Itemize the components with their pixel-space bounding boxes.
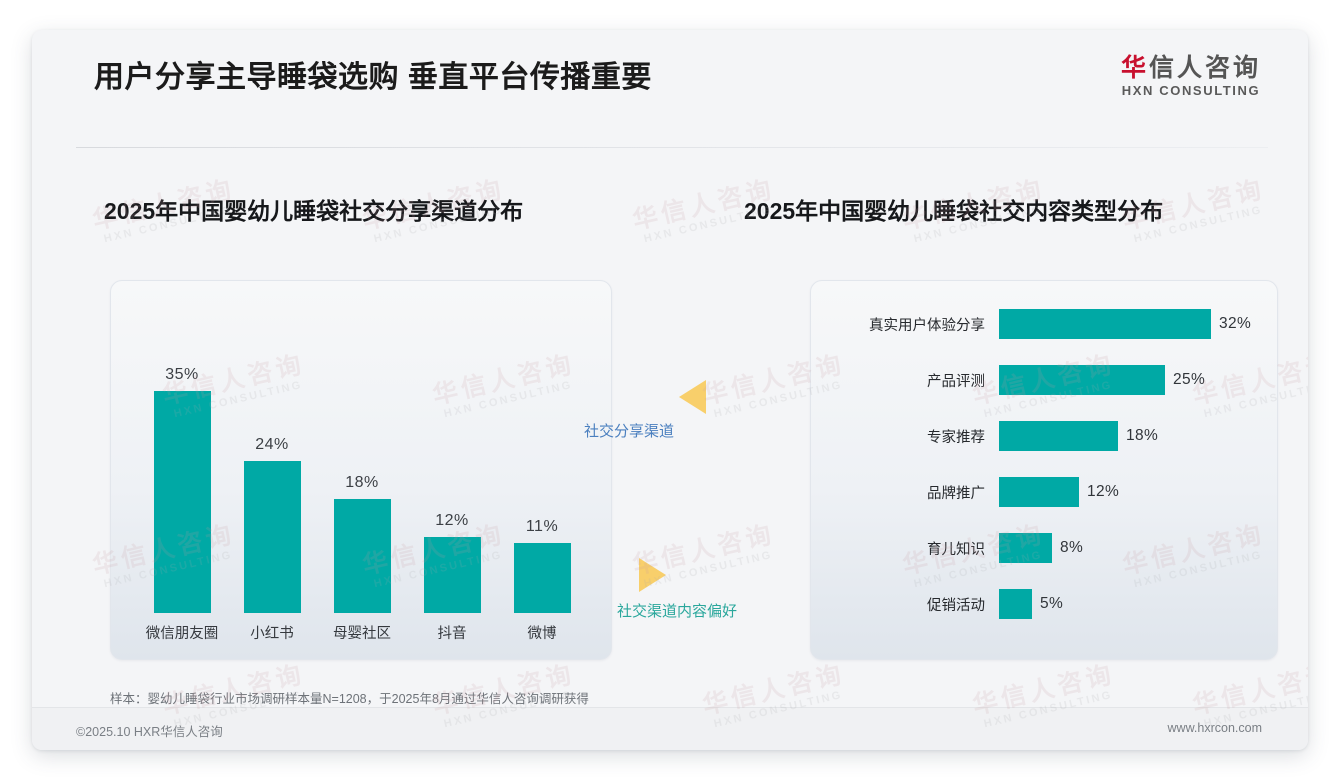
right-chart-title: 2025年中国婴幼儿睡袋社交内容类型分布 [744,192,1163,226]
bar-category-label: 抖音 [407,622,497,643]
bar-value-label: 12% [407,512,497,530]
bar-category-label: 微信朋友圈 [137,622,227,643]
bar-column: 24% [227,436,317,613]
bar-column: 12% [407,512,497,613]
bar [244,461,301,613]
bar-value-label: 8% [1060,539,1083,557]
slide-footer: ©2025.10 HXR华信人咨询 www.hxrcon.com [32,707,1308,750]
bar-value-label: 18% [1126,427,1158,445]
bar-category-label: 小红书 [227,622,317,643]
bar-value-label: 12% [1087,483,1119,501]
page-title: 用户分享主导睡袋选购 垂直平台传播重要 [94,52,652,96]
bar [154,391,211,613]
horizontal-bar-chart: 真实用户体验分享32%产品评测25%专家推荐18%品牌推广12%育儿知识8%促销… [811,281,1277,659]
annotation-b-label: 社交渠道内容偏好 [617,600,737,621]
triangle-right-icon [639,558,666,592]
bar-column: 35% [137,366,227,613]
bar-value-label: 35% [137,366,227,384]
bar-row: 育儿知识8% [811,531,1277,565]
right-chart-panel: 真实用户体验分享32%产品评测25%专家推荐18%品牌推广12%育儿知识8%促销… [810,280,1278,660]
annotation-a-label: 社交分享渠道 [584,420,674,441]
logo-accent-char: 华 [1121,54,1149,82]
bar-category-label: 育儿知识 [811,538,999,559]
triangle-left-icon [679,380,706,414]
bar-column: 11% [497,518,587,613]
bar-row: 专家推荐18% [811,419,1277,453]
bar-value-label: 25% [1173,371,1205,389]
left-chart-panel: 35%微信朋友圈24%小红书18%母婴社区12%抖音11%微博 [110,280,612,660]
bar-column: 18% [317,474,407,613]
slide-header: 用户分享主导睡袋选购 垂直平台传播重要 华信人咨询 HXN CONSULTING [32,30,1308,120]
left-chart-title: 2025年中国婴幼儿睡袋社交分享渠道分布 [104,192,523,226]
bar-category-label: 专家推荐 [811,426,999,447]
bar [999,589,1032,619]
copyright-text: ©2025.10 HXR华信人咨询 [76,721,223,740]
header-divider [76,147,1268,148]
bar-value-label: 5% [1040,595,1063,613]
bar [514,543,571,613]
bar [999,365,1165,395]
bar-category-label: 促销活动 [811,594,999,615]
sample-footnote: 样本：婴幼儿睡袋行业市场调研样本量N=1208，于2025年8月通过华信人咨询调… [110,688,589,707]
bar-category-label: 母婴社区 [317,622,407,643]
bar-category-label: 真实用户体验分享 [811,314,999,335]
bar [334,499,391,613]
bar-category-label: 微博 [497,622,587,643]
bar-row: 促销活动5% [811,587,1277,621]
bar-value-label: 11% [497,518,587,536]
company-logo: 华信人咨询 HXN CONSULTING [1106,55,1276,98]
logo-english-text: HXN CONSULTING [1106,83,1276,98]
bar-value-label: 18% [317,474,407,492]
bar [999,309,1211,339]
bar-category-label: 品牌推广 [811,482,999,503]
bar-value-label: 32% [1219,315,1251,333]
bar-category-label: 产品评测 [811,370,999,391]
bar-row: 真实用户体验分享32% [811,307,1277,341]
bar-row: 产品评测25% [811,363,1277,397]
bar-row: 品牌推广12% [811,475,1277,509]
logo-chinese-text: 华信人咨询 [1106,55,1276,81]
logo-rest-chars: 信人咨询 [1149,54,1261,82]
slide-card: 用户分享主导睡袋选购 垂直平台传播重要 华信人咨询 HXN CONSULTING… [32,30,1308,750]
vertical-bar-chart: 35%微信朋友圈24%小红书18%母婴社区12%抖音11%微博 [111,281,611,659]
bar [999,533,1052,563]
bar [424,537,481,613]
bar [999,421,1118,451]
bar [999,477,1079,507]
bar-value-label: 24% [227,436,317,454]
website-link[interactable]: www.hxrcon.com [1168,721,1262,735]
